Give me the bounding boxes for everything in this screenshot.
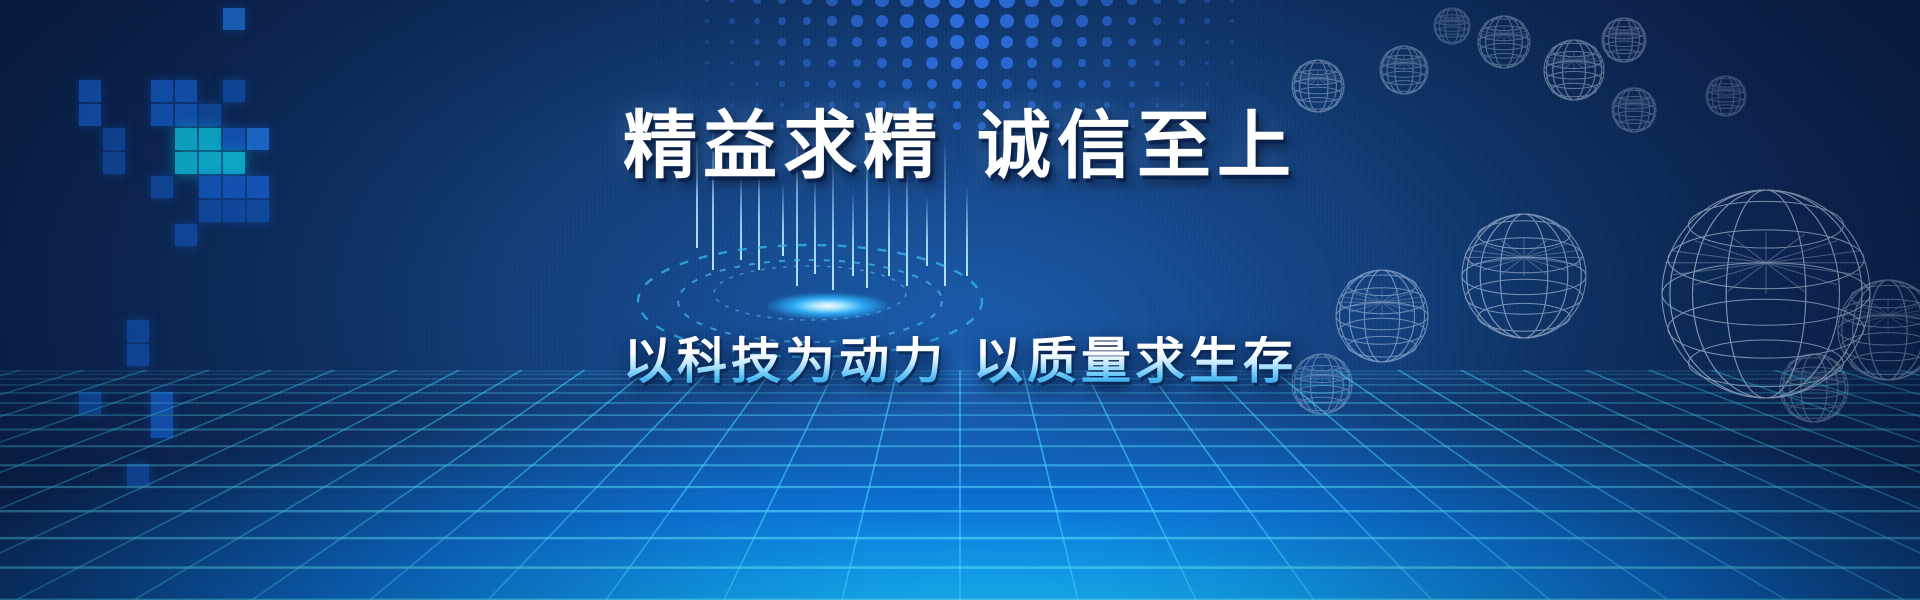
floor-radial-line	[960, 370, 1920, 600]
floor-radial-line	[960, 370, 1196, 600]
floor-radial-line	[960, 370, 1920, 600]
floor-radial-line	[960, 370, 1920, 600]
matrix-dot	[851, 15, 862, 26]
matrix-dot	[1204, 18, 1209, 23]
wireframe-globe	[1460, 212, 1588, 340]
floor-radial-line	[0, 370, 960, 600]
matrix-dot	[1103, 59, 1111, 67]
mosaic-square	[175, 80, 197, 102]
matrix-dot	[1256, 41, 1258, 43]
floor-radial-line	[370, 370, 960, 600]
mosaic-square	[175, 224, 197, 246]
floor-radial-line	[960, 370, 1920, 600]
matrix-dot	[1129, 81, 1135, 87]
matrix-dot	[878, 80, 887, 89]
matrix-dot	[754, 18, 761, 25]
matrix-dot	[755, 82, 760, 87]
floor-radial-line	[0, 370, 960, 600]
mosaic-square	[223, 8, 245, 30]
title-part-2: 诚信至上	[977, 106, 1297, 188]
wireframe-globe	[1378, 44, 1430, 96]
matrix-dot	[804, 81, 810, 87]
floor-radial-line	[0, 370, 960, 600]
floor-radial-line	[0, 370, 960, 600]
matrix-dot	[1230, 19, 1234, 23]
mosaic-square	[199, 200, 221, 222]
matrix-dot	[705, 40, 709, 44]
matrix-dot	[1231, 83, 1234, 86]
matrix-dot	[977, 79, 987, 89]
matrix-dot	[1204, 0, 1210, 3]
matrix-dot	[754, 39, 760, 45]
matrix-dot	[950, 14, 965, 29]
floor-radial-line	[0, 370, 960, 600]
matrix-dot	[802, 0, 812, 5]
floor-radial-line	[960, 370, 1786, 600]
floor-radial-line	[0, 370, 960, 600]
mosaic-square	[247, 200, 269, 222]
matrix-dot	[975, 35, 988, 48]
matrix-dot	[1153, 17, 1161, 25]
floor-radial-line	[0, 370, 960, 600]
mosaic-square	[223, 80, 245, 102]
floor-radial-line	[960, 370, 1920, 600]
matrix-dot	[1205, 40, 1210, 45]
floor-radial-line	[606, 370, 960, 600]
floor-radial-line	[0, 370, 960, 600]
matrix-dot	[1230, 61, 1233, 64]
wireframe-globe	[1600, 16, 1648, 64]
matrix-dot	[1127, 0, 1137, 5]
wireframe-globe	[1432, 6, 1472, 46]
floor-radial-line	[960, 370, 1920, 600]
floor-radial-line	[960, 370, 1920, 600]
matrix-dot	[1052, 58, 1062, 68]
floor-radial-line	[960, 370, 1920, 600]
matrix-dot	[778, 0, 787, 4]
matrix-dot	[803, 59, 810, 66]
matrix-dot	[1078, 80, 1086, 88]
floor-radial-line	[0, 370, 960, 600]
hero-banner: 精益求精诚信至上 以科技为动力以质量求生存	[0, 0, 1920, 600]
subtitle-part-1: 以科技为动力	[623, 333, 947, 389]
matrix-dot	[656, 41, 657, 42]
matrix-dot	[1154, 81, 1160, 87]
matrix-dot	[1153, 0, 1162, 4]
floor-radial-line	[0, 370, 960, 600]
matrix-dot	[1102, 16, 1112, 26]
matrix-dot	[1001, 57, 1012, 68]
matrix-dot	[974, 0, 990, 8]
matrix-dot	[900, 0, 914, 7]
floor-radial-line	[960, 370, 1920, 600]
floor-radial-line	[0, 370, 960, 600]
floor-radial-line	[0, 370, 960, 600]
floor-radial-line	[0, 370, 960, 600]
matrix-dot	[1178, 0, 1185, 4]
floor-radial-line	[960, 370, 1920, 600]
matrix-dot	[926, 36, 939, 49]
matrix-dot	[853, 80, 861, 88]
matrix-dot	[705, 0, 709, 2]
matrix-dot	[951, 57, 963, 69]
matrix-dot	[778, 38, 785, 45]
matrix-dot	[1076, 15, 1087, 26]
wireframe-globe	[1476, 14, 1532, 70]
floor-radial-line	[960, 370, 1920, 600]
matrix-dot	[656, 62, 657, 63]
floor-radial-line	[0, 370, 960, 600]
matrix-dot	[902, 79, 911, 88]
matrix-dot	[1256, 20, 1259, 23]
floor-radial-line	[960, 370, 1550, 600]
matrix-dot	[875, 0, 888, 7]
floor-radial-line	[134, 370, 960, 600]
matrix-dot	[730, 61, 734, 65]
matrix-dot	[753, 0, 760, 4]
floor-radial-line	[960, 370, 1920, 600]
matrix-dot	[1180, 82, 1185, 87]
matrix-dot	[950, 35, 963, 48]
floor-radial-line	[0, 370, 960, 600]
matrix-dot	[953, 101, 962, 110]
matrix-dot	[1027, 58, 1038, 69]
matrix-dot	[851, 0, 863, 6]
matrix-dot	[1128, 38, 1136, 46]
matrix-dot	[1205, 82, 1209, 86]
matrix-dot	[1128, 17, 1137, 26]
floor-radial-line	[960, 370, 1920, 600]
page-title: 精益求精诚信至上	[0, 110, 1920, 184]
matrix-dot	[852, 37, 862, 47]
matrix-dot	[1052, 37, 1063, 48]
matrix-dot	[1076, 0, 1088, 6]
matrix-dot	[1026, 36, 1038, 48]
matrix-dot	[826, 0, 837, 6]
floor-radial-line	[960, 370, 1920, 600]
floor-grid-svg	[0, 370, 1920, 600]
floor-radial-line	[0, 370, 960, 600]
matrix-dot	[927, 79, 937, 89]
matrix-dot	[729, 18, 734, 23]
matrix-dot	[1256, 62, 1258, 64]
matrix-dot	[999, 0, 1014, 8]
matrix-dot	[681, 41, 683, 43]
mosaic-square	[79, 80, 101, 102]
floor-radial-line	[960, 370, 1920, 600]
matrix-dot	[803, 17, 812, 26]
matrix-dot	[681, 62, 683, 64]
matrix-dot	[656, 20, 657, 21]
wireframe-globe	[1542, 38, 1606, 102]
page-subtitle: 以科技为动力以质量求生存	[0, 336, 1920, 386]
matrix-dot	[853, 59, 862, 68]
floor-radial-line	[842, 370, 960, 600]
matrix-dot	[1154, 60, 1160, 66]
floor-radial-line	[0, 370, 960, 600]
floor-radial-line	[0, 370, 960, 600]
matrix-dot	[778, 17, 786, 25]
matrix-dot	[924, 0, 939, 8]
matrix-dot	[1103, 80, 1110, 87]
matrix-dot	[1128, 59, 1135, 66]
mosaic-square	[151, 80, 173, 102]
matrix-dot	[1053, 80, 1062, 89]
title-part-1: 精益求精	[623, 106, 943, 188]
wireframe-globe	[1290, 58, 1346, 114]
floor-radial-line	[724, 370, 960, 600]
floor-radial-line	[960, 370, 1920, 600]
matrix-dot	[926, 57, 937, 68]
matrix-dot	[681, 0, 684, 1]
matrix-dot	[925, 14, 939, 28]
matrix-dot	[1179, 60, 1184, 65]
matrix-dot	[754, 60, 759, 65]
floor-radial-line	[0, 370, 960, 600]
matrix-dot	[1205, 61, 1209, 65]
matrix-dot	[877, 37, 888, 48]
matrix-dot	[1025, 14, 1038, 27]
matrix-dot	[828, 80, 835, 87]
matrix-dot	[1102, 37, 1111, 46]
matrix-dot	[779, 81, 785, 87]
floor-radial-line	[960, 370, 1920, 600]
matrix-dot	[902, 58, 913, 69]
matrix-dot	[1078, 59, 1087, 68]
matrix-dot	[729, 0, 735, 3]
matrix-dot	[1179, 39, 1185, 45]
matrix-dot	[656, 0, 658, 1]
matrix-dot	[779, 60, 785, 66]
matrix-dot	[949, 0, 965, 8]
floor-radial-line	[960, 370, 1920, 600]
floor-radial-line	[0, 370, 960, 600]
matrix-dot	[681, 83, 683, 85]
matrix-dot	[827, 37, 836, 46]
matrix-dot	[952, 79, 962, 89]
matrix-dot	[1153, 38, 1160, 45]
floor-radial-line	[960, 370, 1920, 600]
matrix-dot	[976, 57, 988, 69]
matrix-dot	[1101, 0, 1112, 6]
floor-radial-line	[960, 370, 1920, 600]
matrix-dot	[1001, 36, 1014, 49]
matrix-dot	[730, 82, 734, 86]
matrix-dot	[1230, 40, 1234, 44]
matrix-dot	[1179, 18, 1186, 25]
matrix-dot	[828, 59, 836, 67]
matrix-dot	[1051, 15, 1063, 27]
matrix-dot	[706, 83, 709, 86]
matrix-dot	[1027, 79, 1036, 88]
matrix-dot	[1000, 14, 1014, 28]
floor-radial-line	[960, 370, 1314, 600]
floor-radial-line	[960, 370, 1920, 600]
matrix-dot	[877, 58, 887, 68]
subtitle-part-2: 以质量求生存	[973, 333, 1297, 389]
matrix-dot	[1050, 0, 1063, 7]
perspective-floor	[0, 370, 1920, 600]
floor-radial-line	[960, 370, 1920, 600]
floor-radial-line	[0, 370, 960, 600]
matrix-dot	[975, 14, 990, 29]
matrix-dot	[1025, 0, 1039, 7]
floor-radial-line	[0, 370, 960, 600]
matrix-dot	[681, 20, 684, 23]
matrix-dot	[1002, 79, 1012, 89]
matrix-dot	[901, 36, 913, 48]
matrix-dot	[705, 19, 709, 23]
floor-radial-line	[0, 370, 960, 600]
floor-radial-line	[960, 370, 1920, 600]
matrix-dot	[1256, 83, 1258, 85]
matrix-dot	[1077, 37, 1087, 47]
floor-radial-line	[0, 370, 960, 600]
matrix-dot	[730, 40, 735, 45]
floor-radial-line	[960, 370, 1920, 600]
matrix-dot	[803, 38, 811, 46]
floor-radial-line	[0, 370, 960, 600]
center-light-burst	[768, 293, 888, 319]
matrix-dot	[1256, 0, 1259, 1]
mosaic-square	[223, 200, 245, 222]
floor-radial-line	[960, 370, 1920, 600]
matrix-dot	[900, 14, 913, 27]
matrix-dot	[876, 15, 888, 27]
floor-radial-line	[960, 370, 1920, 600]
matrix-dot	[1230, 0, 1234, 2]
matrix-dot	[705, 61, 708, 64]
floor-radial-line	[960, 370, 1078, 600]
floor-radial-line	[0, 370, 960, 600]
matrix-dot	[827, 16, 837, 26]
